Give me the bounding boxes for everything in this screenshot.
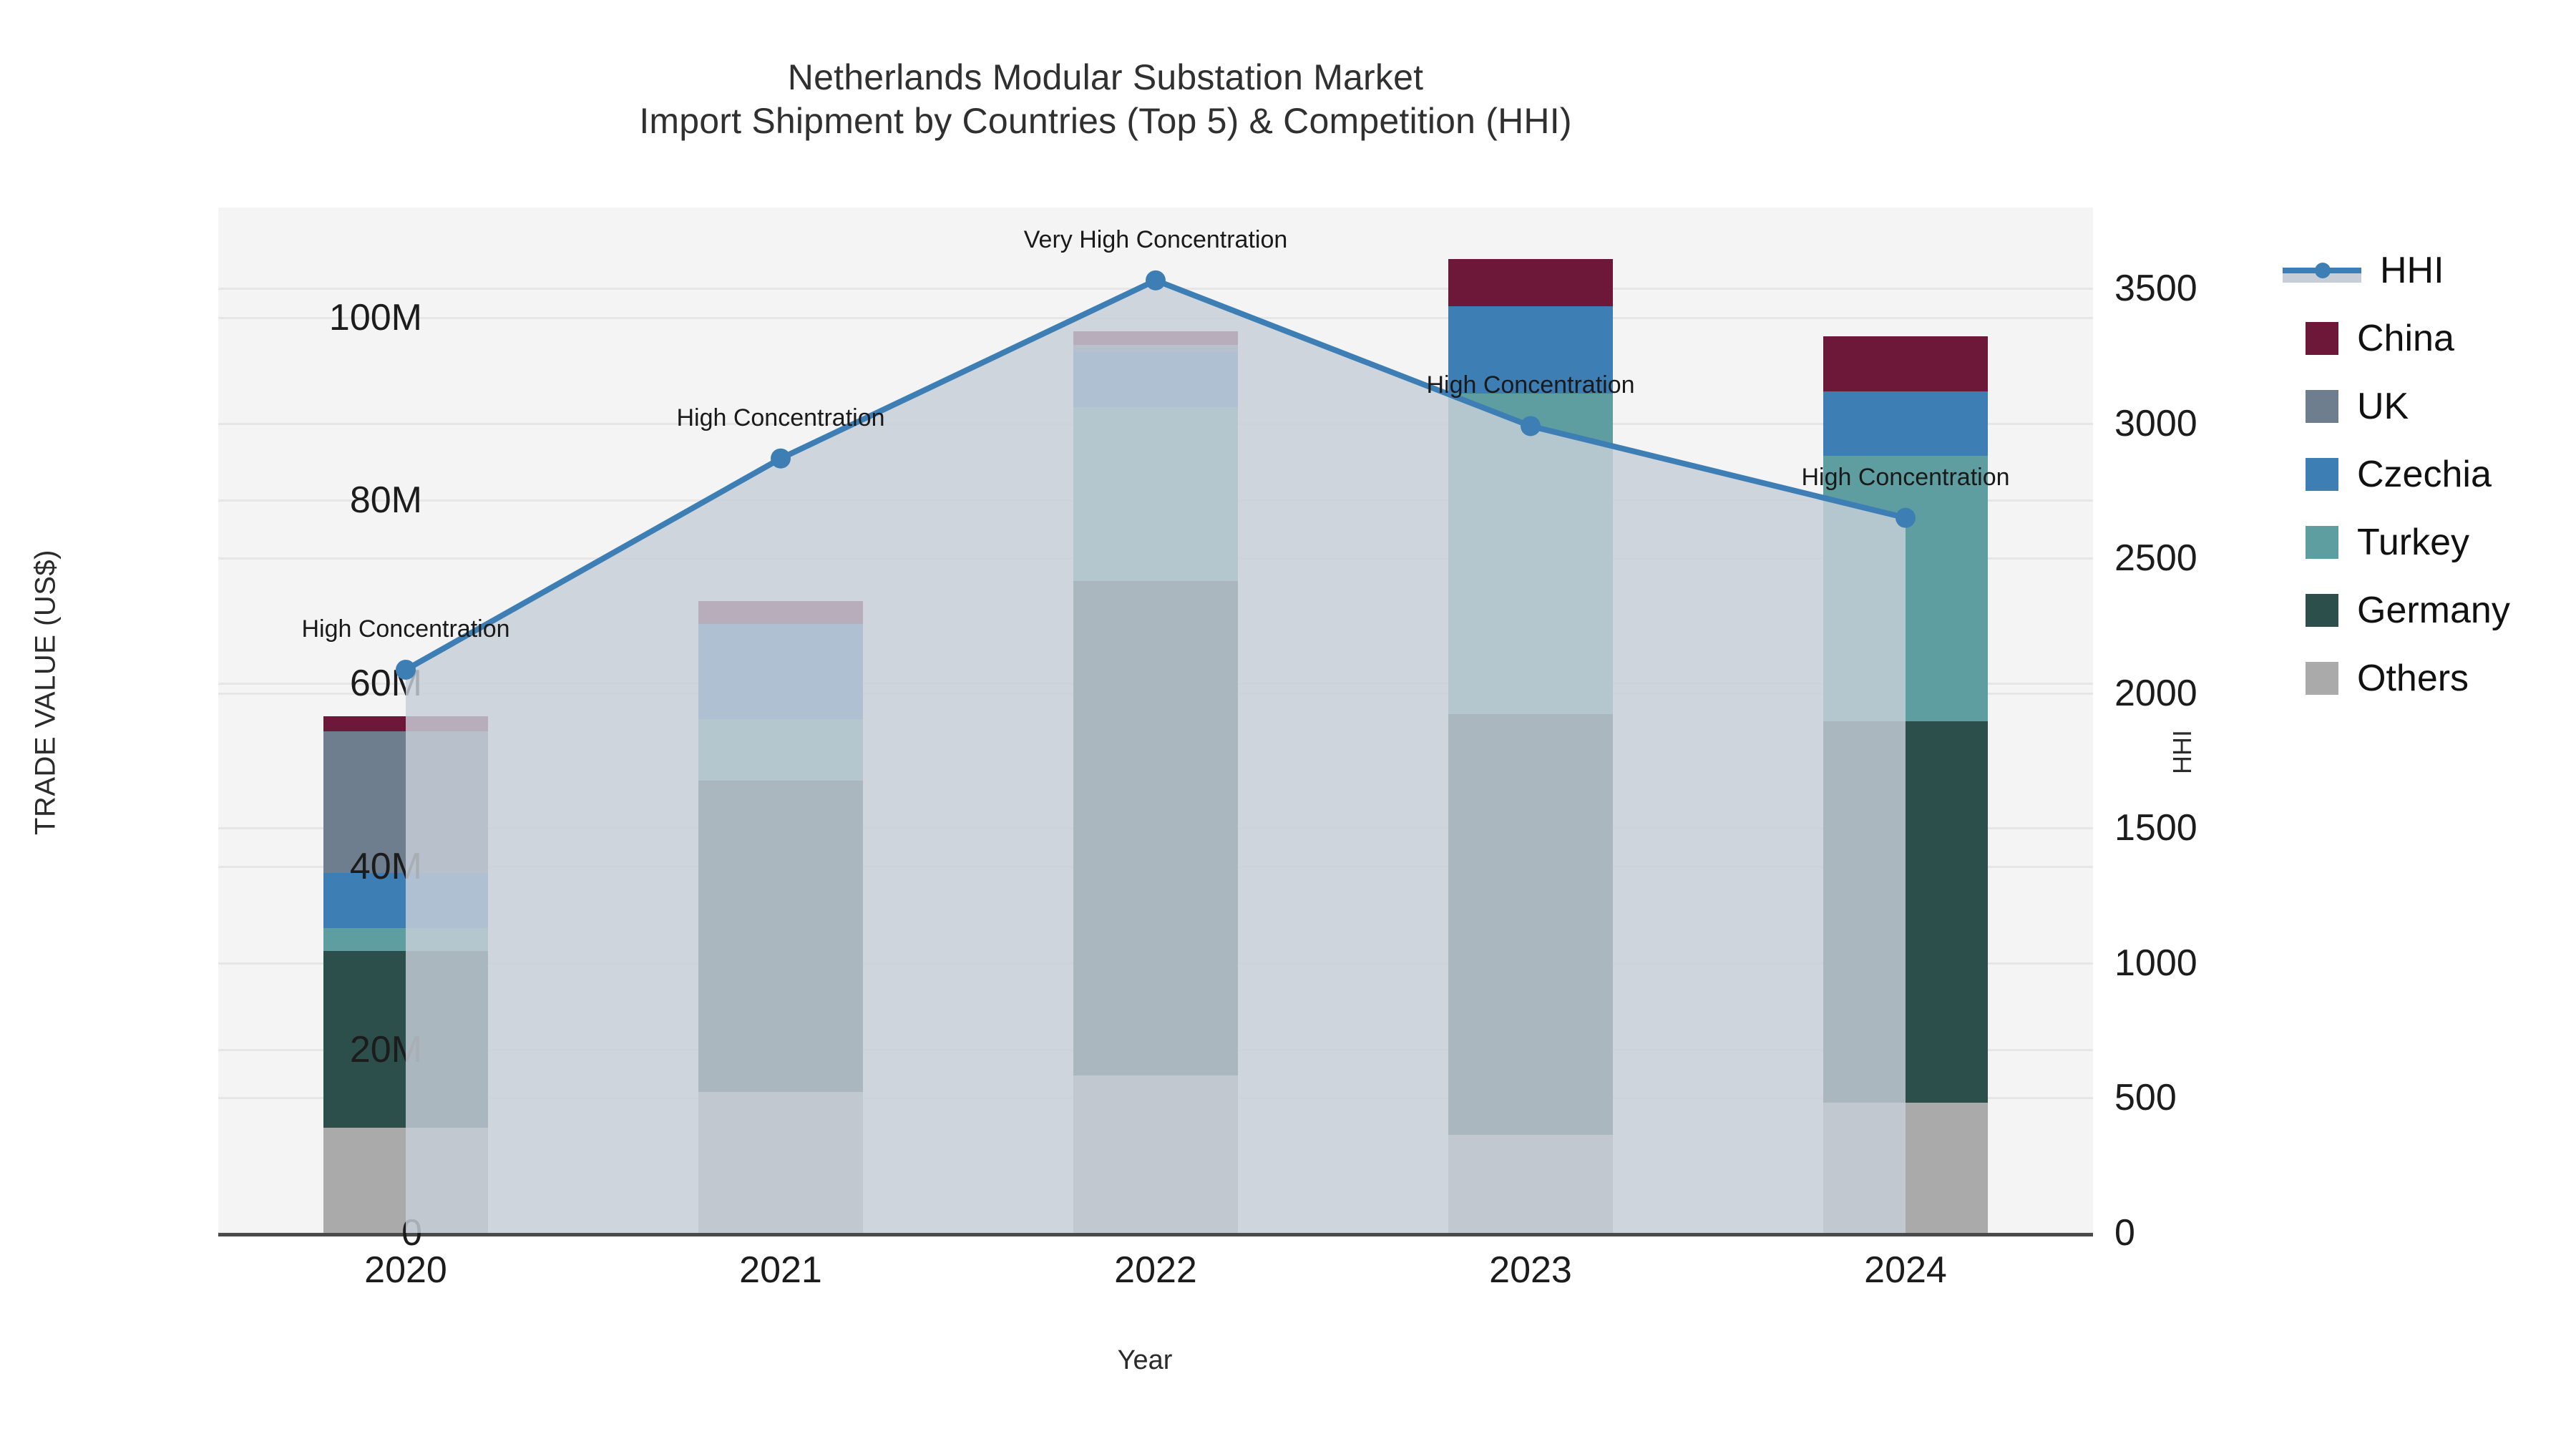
- legend-label: Czechia: [2357, 456, 2492, 493]
- x-tick-label-2023: 2023: [1402, 1249, 1659, 1292]
- bar-segment-2021-others[interactable]: [698, 1092, 863, 1233]
- chart-page: Netherlands Modular Substation Market Im…: [0, 0, 2576, 1449]
- y-tick-label: 80M: [236, 479, 422, 522]
- legend-label: Others: [2357, 660, 2469, 697]
- chart-subtitle: Import Shipment by Countries (Top 5) & C…: [0, 99, 2211, 143]
- bar-segment-2024-china[interactable]: [1823, 336, 1988, 391]
- legend-swatch-icon: [2306, 594, 2338, 627]
- bars-layer: [218, 208, 2093, 1233]
- hhi-annotation-2022: Very High Concentration: [1024, 226, 1288, 254]
- y-tick-label: 0: [236, 1211, 422, 1254]
- bar-segment-2021-czechia[interactable]: [698, 624, 863, 719]
- legend-item-czechia[interactable]: Czechia: [2283, 440, 2569, 508]
- bar-segment-2020-china[interactable]: [323, 716, 488, 731]
- bar-segment-2024-germany[interactable]: [1823, 721, 1988, 1103]
- legend-swatch-icon: [2306, 458, 2338, 491]
- legend-item-hhi[interactable]: HHI: [2283, 236, 2569, 304]
- legend-swatch-icon: [2306, 322, 2338, 355]
- legend-swatch-icon: [2306, 526, 2338, 559]
- legend-label: UK: [2357, 388, 2409, 425]
- chart-title-block: Netherlands Modular Substation Market Im…: [0, 56, 2211, 143]
- bar-segment-2024-czechia[interactable]: [1823, 391, 1988, 456]
- bar-segment-2020-turkey[interactable]: [323, 928, 488, 951]
- y-tick-label: 60M: [236, 662, 422, 705]
- legend: HHIChinaUKCzechiaTurkeyGermanyOthers: [2283, 236, 2569, 712]
- hhi-annotation-2024: High Concentration: [1801, 464, 2009, 492]
- hhi-annotation-2021: High Concentration: [676, 404, 884, 432]
- bar-segment-2022-others[interactable]: [1073, 1075, 1238, 1233]
- legend-item-china[interactable]: China: [2283, 304, 2569, 372]
- bar-segment-2021-china[interactable]: [698, 601, 863, 624]
- bar-group-2020[interactable]: [323, 208, 488, 1233]
- bar-segment-2021-germany[interactable]: [698, 781, 863, 1092]
- bar-segment-2021-turkey[interactable]: [698, 719, 863, 781]
- y-tick-label-right: 500: [2114, 1076, 2329, 1119]
- bar-segment-2024-others[interactable]: [1823, 1103, 1988, 1233]
- legend-item-turkey[interactable]: Turkey: [2283, 508, 2569, 576]
- bar-segment-2022-china[interactable]: [1073, 331, 1238, 345]
- bar-group-2022[interactable]: [1073, 208, 1238, 1233]
- x-tick-label-2020: 2020: [277, 1249, 535, 1292]
- x-tick-label-2021: 2021: [652, 1249, 909, 1292]
- legend-swatch-icon: [2306, 390, 2338, 423]
- hhi-annotation-2020: High Concentration: [301, 615, 509, 643]
- legend-label: HHI: [2380, 252, 2444, 289]
- legend-label: Germany: [2357, 592, 2510, 629]
- bar-group-2024[interactable]: [1823, 208, 1988, 1233]
- chart-title: Netherlands Modular Substation Market: [0, 56, 2211, 99]
- legend-item-others[interactable]: Others: [2283, 644, 2569, 712]
- legend-item-uk[interactable]: UK: [2283, 372, 2569, 440]
- y-tick-label: 20M: [236, 1028, 422, 1071]
- x-axis-label: Year: [215, 1345, 2075, 1376]
- hhi-annotation-2023: High Concentration: [1426, 371, 1634, 399]
- bar-group-2023[interactable]: [1448, 208, 1613, 1233]
- bar-segment-2023-china[interactable]: [1448, 259, 1613, 307]
- y-tick-label-right: 0: [2114, 1211, 2329, 1254]
- bar-segment-2022-uk[interactable]: [1073, 345, 1238, 352]
- y-tick-label: 100M: [236, 296, 422, 339]
- legend-label: China: [2357, 320, 2454, 357]
- legend-swatch-icon: [2306, 662, 2338, 695]
- bar-segment-2023-germany[interactable]: [1448, 714, 1613, 1136]
- legend-label: Turkey: [2357, 524, 2469, 561]
- y-tick-label: 40M: [236, 845, 422, 888]
- legend-item-germany[interactable]: Germany: [2283, 576, 2569, 644]
- bar-segment-2024-turkey[interactable]: [1823, 456, 1988, 721]
- plot-area: [218, 208, 2093, 1233]
- x-axis-line: [218, 1233, 2093, 1236]
- hhi-line-icon: [2283, 254, 2361, 287]
- bar-segment-2023-turkey[interactable]: [1448, 394, 1613, 714]
- bar-segment-2022-czechia[interactable]: [1073, 352, 1238, 407]
- y-tick-label-right: 1500: [2114, 806, 2329, 849]
- bar-segment-2022-turkey[interactable]: [1073, 407, 1238, 581]
- bar-segment-2023-others[interactable]: [1448, 1135, 1613, 1233]
- y-tick-label-right: 1000: [2114, 942, 2329, 985]
- y-axis-label-left: TRADE VALUE (US$): [30, 478, 62, 907]
- x-tick-label-2022: 2022: [1027, 1249, 1284, 1292]
- bar-segment-2022-germany[interactable]: [1073, 581, 1238, 1075]
- x-tick-label-2024: 2024: [1777, 1249, 2034, 1292]
- bar-group-2021[interactable]: [698, 208, 863, 1233]
